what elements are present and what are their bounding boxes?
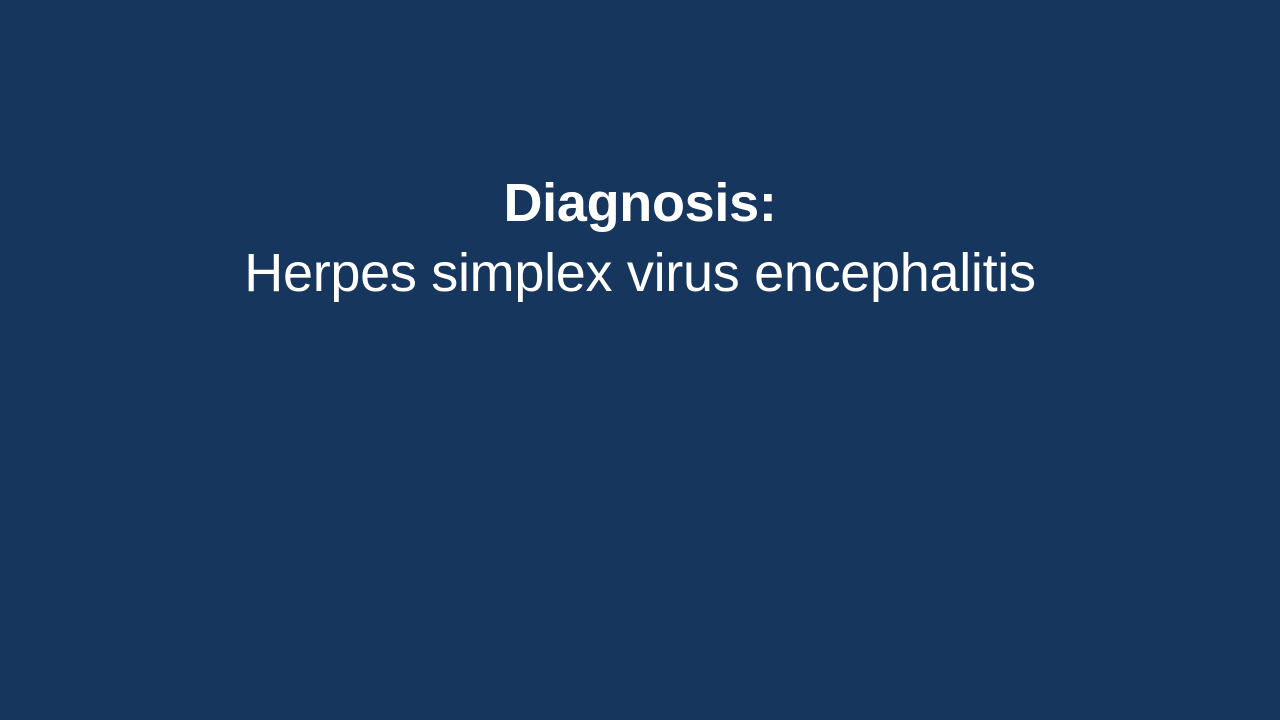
slide-text-block: Diagnosis: Herpes simplex virus encephal… xyxy=(0,168,1280,308)
presentation-slide: Diagnosis: Herpes simplex virus encephal… xyxy=(0,0,1280,720)
slide-subtitle: Herpes simplex virus encephalitis xyxy=(60,238,1220,308)
slide-body-area xyxy=(0,320,1280,720)
slide-title: Diagnosis: xyxy=(60,168,1220,238)
